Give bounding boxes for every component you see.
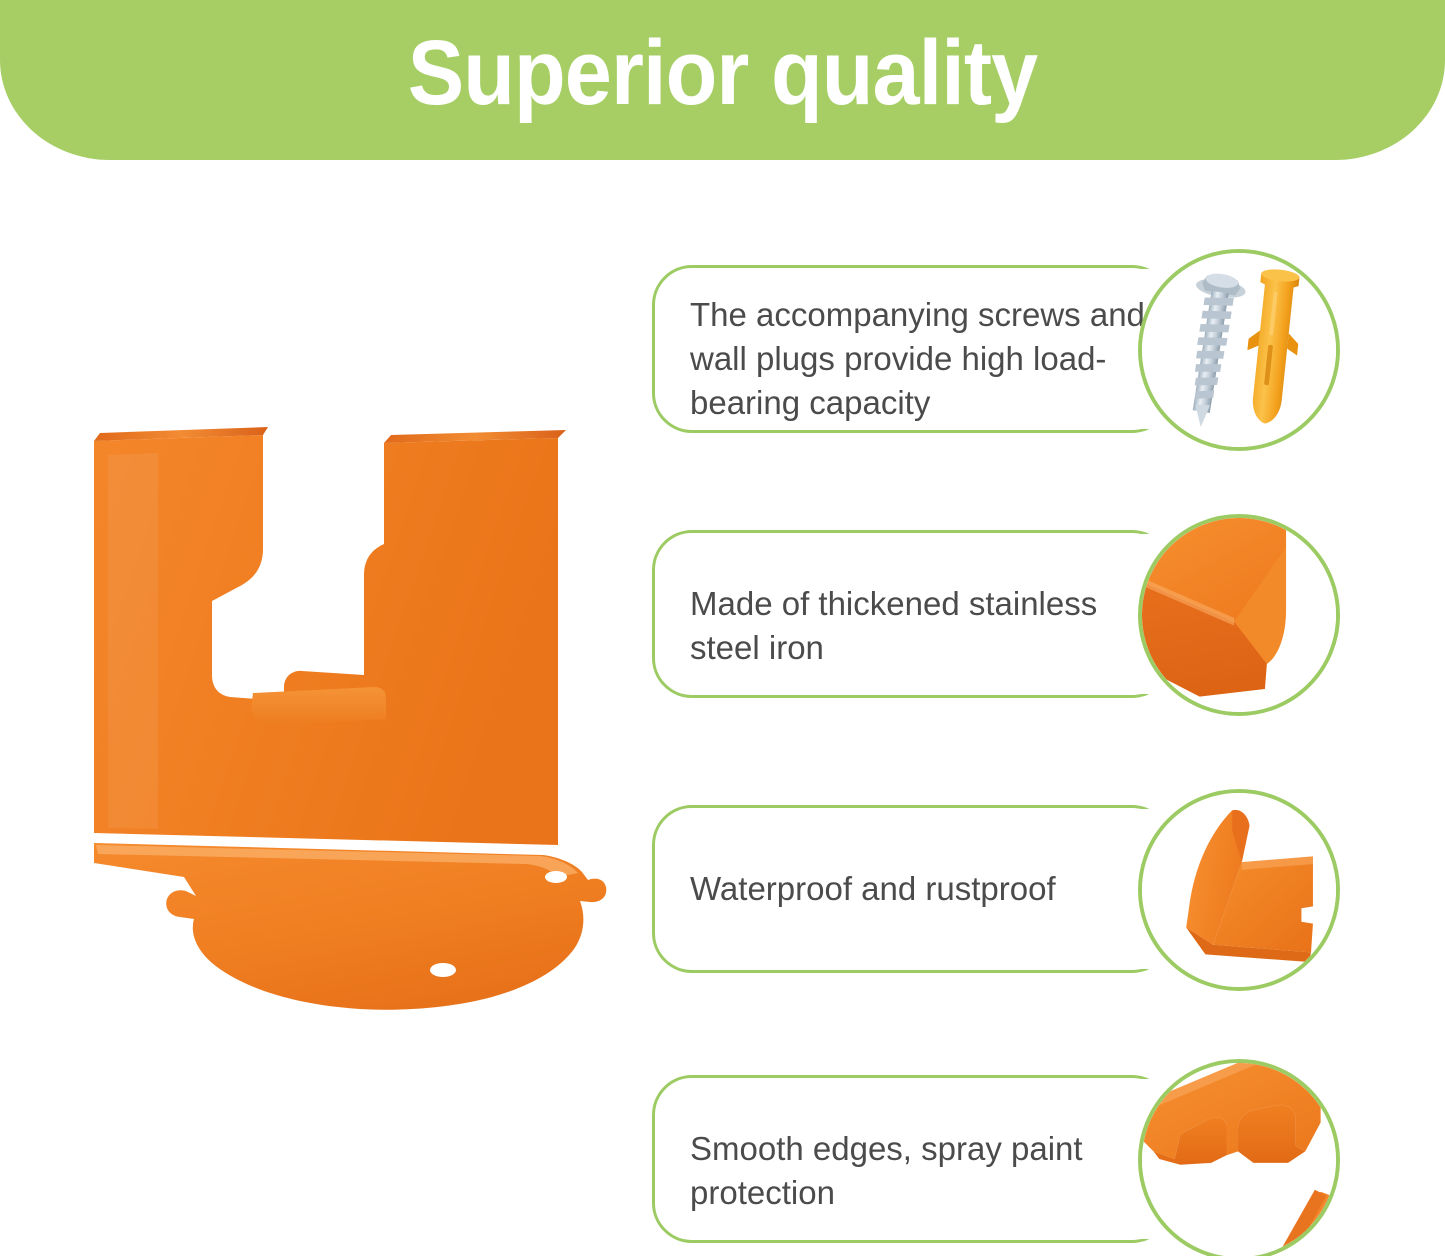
product-image: [88, 425, 608, 1085]
feature-item-screws: The accompanying screws and wall plugs p…: [650, 265, 1360, 433]
feature-text: Made of thickened stainless steel iron: [690, 582, 1145, 670]
bracket-base-closeup-icon: [1142, 793, 1336, 987]
bracket-cutout-closeup-icon: [1142, 1063, 1336, 1256]
screw-and-wall-plug-icon: [1142, 253, 1336, 447]
feature-item-edges: Smooth edges, spray paint protection: [650, 1075, 1360, 1243]
product-infographic-page: Superior quality: [0, 0, 1445, 1256]
feature-image-bracket-base: [1138, 789, 1340, 991]
feature-text: Waterproof and rustproof: [690, 867, 1145, 911]
feature-image-bracket-corner: [1138, 514, 1340, 716]
feature-list: The accompanying screws and wall plugs p…: [650, 0, 1445, 1256]
inner-shelf-tab: [251, 687, 386, 725]
bracket-corner-closeup-icon: [1142, 518, 1336, 712]
bracket-front-face: [94, 435, 558, 845]
feature-item-material: Made of thickened stainless steel iron: [650, 530, 1360, 698]
feature-item-waterproof: Waterproof and rustproof: [650, 805, 1360, 973]
face-sheen: [108, 453, 158, 829]
feature-text: Smooth edges, spray paint protection: [690, 1127, 1145, 1215]
mounting-hole-left: [169, 918, 193, 932]
feature-image-bracket-cutout: [1138, 1059, 1340, 1256]
feature-image-screw-and-wall-plug: [1138, 249, 1340, 451]
mounting-hole-center: [430, 963, 456, 977]
feature-text: The accompanying screws and wall plugs p…: [690, 293, 1145, 425]
product-illustration: [88, 425, 608, 1085]
mounting-hole-right: [545, 871, 567, 883]
